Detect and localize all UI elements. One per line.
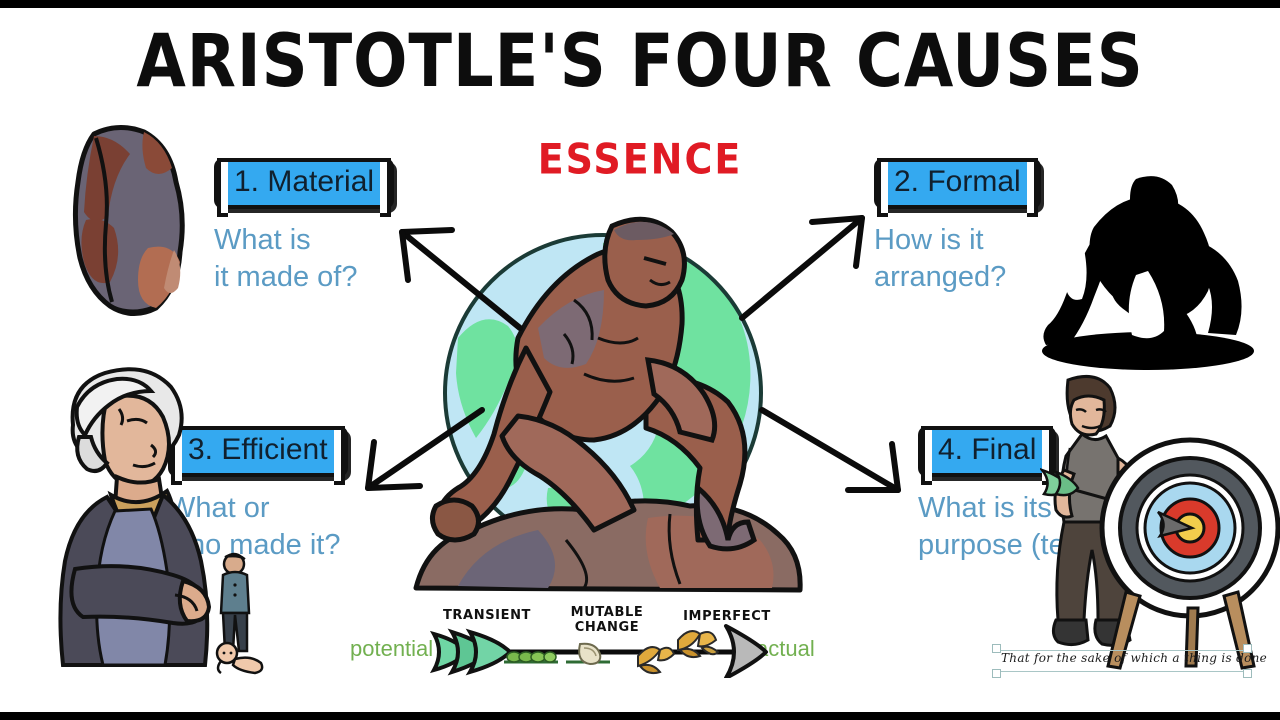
caption-selection-box[interactable]: That for the sake of which a thing is do… [997, 650, 1247, 672]
caterpillar-icon [504, 652, 558, 662]
caption-text[interactable]: That for the sake of which a thing is do… [1001, 651, 1267, 665]
cause-label-final[interactable]: 4. Final [918, 426, 1056, 477]
selection-handle-bottom-left[interactable] [992, 669, 1001, 678]
selection-handle-bottom-right[interactable] [1243, 669, 1252, 678]
butterfly-icon-1 [638, 647, 674, 673]
diagram-canvas: ARISTOTLE'S FOUR CAUSES ESSENCE [0, 0, 1280, 720]
elderly-woman-illustration [55, 365, 270, 680]
butterfly-icon-2 [678, 631, 718, 657]
cause-question-material: What is it made of? [214, 222, 394, 296]
archery-target [1102, 440, 1278, 616]
statue-silhouette-illustration [1040, 175, 1255, 370]
cause-label-material[interactable]: 1. Material [214, 158, 394, 209]
archer-and-target-illustration [1040, 370, 1280, 670]
cause-block-material: 1. Material What is it made of? [214, 158, 394, 296]
rock-illustration [52, 120, 217, 325]
selection-handle-top-left[interactable] [992, 644, 1001, 653]
arrow-fletching [434, 632, 510, 672]
small-man-figure [221, 554, 249, 651]
metamorphosis-arrow [352, 600, 842, 678]
letterbox-bar-top [0, 0, 1280, 8]
cause-label-formal[interactable]: 2. Formal [874, 158, 1041, 209]
letterbox-bar-bottom [0, 712, 1280, 720]
selection-handle-top-right[interactable] [1243, 644, 1252, 653]
cause-question-formal: How is it arranged? [874, 222, 1041, 296]
cause-block-formal: 2. Formal How is it arranged? [874, 158, 1041, 296]
potential-to-actual-strip: TRANSIENT MUTABLE CHANGE IMPERFECT poten… [352, 600, 842, 678]
central-statue-illustration [398, 188, 818, 613]
page-title: ARISTOTLE'S FOUR CAUSES [38, 19, 1241, 104]
